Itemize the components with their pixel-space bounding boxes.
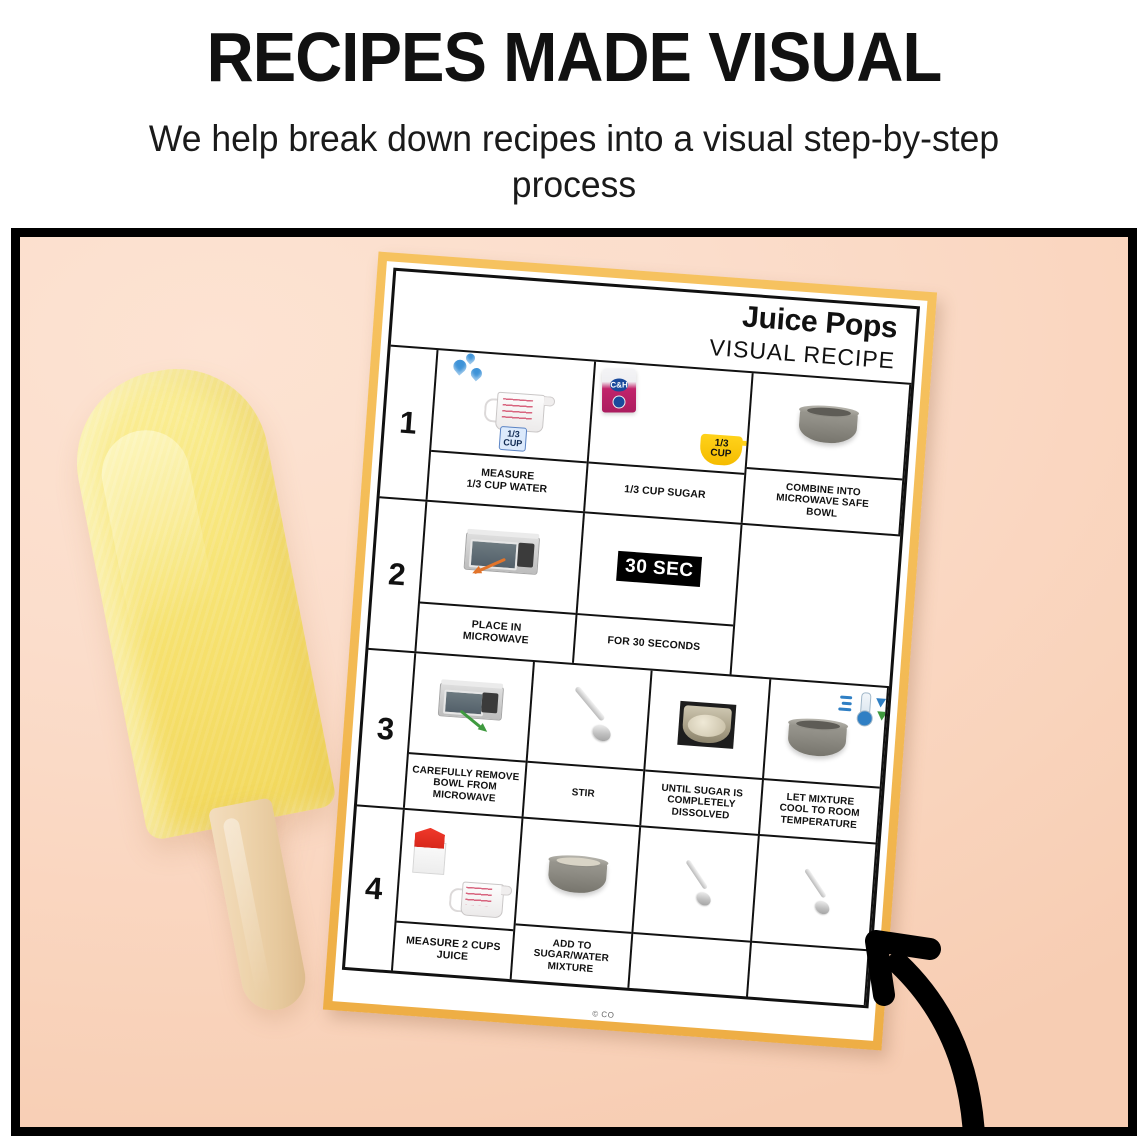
page-title: RECIPES MADE VISUAL	[40, 22, 1108, 93]
cell-image	[751, 836, 875, 951]
page-header: RECIPES MADE VISUAL We help break down r…	[0, 0, 1148, 228]
pot-dissolved-sugar-icon	[678, 700, 737, 748]
cell-image: 30 SEC	[578, 513, 741, 626]
spoon-icon	[787, 868, 840, 918]
cell-caption: MEASURE 2 CUPSJUICE	[393, 923, 513, 979]
measure-badge: 1/3CUP	[499, 426, 528, 452]
spoon-icon	[669, 859, 722, 909]
recipe-cell	[629, 827, 759, 996]
curved-arrow-icon	[856, 899, 1086, 1136]
recipe-cell: LET MIXTURECOOL TO ROOMTEMPERATURE	[759, 679, 889, 842]
recipe-cell: CAREFULLY REMOVEBOWL FROMMICROWAVE	[405, 653, 535, 816]
recipe-cell: MEASURE 2 CUPSJUICE	[393, 810, 523, 979]
cell-caption: LET MIXTURECOOL TO ROOMTEMPERATURE	[759, 780, 879, 842]
recipe-cell: STIR	[523, 662, 653, 825]
cell-image	[396, 810, 520, 931]
recipe-cell: 30 SEC FOR 30 SECONDS	[574, 513, 742, 674]
recipe-cell: COMBINE INTOMICROWAVE SAFEBOWL	[743, 373, 911, 534]
bowl-icon	[798, 407, 858, 445]
yellow-measuring-cup-icon: 1/3CUP	[699, 434, 743, 467]
spoon-icon	[555, 686, 622, 746]
recipe-page: Juice Pops VISUAL RECIPE 1	[333, 261, 928, 1041]
cell-image	[527, 662, 651, 771]
cell-image	[645, 671, 769, 780]
microwave-icon	[438, 682, 504, 721]
recipe-cell	[748, 836, 878, 1005]
cell-caption: UNTIL SUGAR ISCOMPLETELYDISSOLVED	[641, 771, 761, 833]
cell-image	[763, 679, 887, 788]
thermometer-cool-icon	[850, 691, 878, 727]
popsicle-texture	[61, 353, 337, 841]
cell-caption: ADD TOSUGAR/WATERMIXTURE	[511, 925, 631, 987]
juice-carton-icon	[412, 827, 449, 875]
cell-caption	[629, 934, 749, 996]
cell-image: C&H 1/3CUP	[589, 362, 752, 475]
recipe-cell-empty	[732, 525, 900, 686]
cell-image-empty	[732, 525, 900, 686]
page-subtitle: We help break down recipes into a visual…	[94, 116, 1054, 207]
bowl-filled-icon	[547, 856, 607, 894]
measuring-cup-icon	[456, 879, 507, 918]
cell-image	[747, 373, 909, 480]
framed-photo-panel: Juice Pops VISUAL RECIPE 1	[11, 228, 1137, 1136]
cell-image	[633, 827, 757, 942]
recipe-cell: UNTIL SUGAR ISCOMPLETELYDISSOLVED	[641, 671, 771, 834]
recipe-cell: PLACE INMICROWAVE	[416, 502, 585, 663]
recipe-cell: C&H 1/3CUP 1/3 CUP SUGAR	[585, 362, 753, 523]
cell-caption: STIR	[523, 763, 643, 825]
recipe-cell: 1/3CUP MEASURE1/3 CUP WATER	[428, 350, 597, 511]
cell-image	[515, 819, 639, 934]
cell-caption: COMBINE INTOMICROWAVE SAFEBOWL	[743, 469, 902, 534]
cell-caption: CAREFULLY REMOVEBOWL FROMMICROWAVE	[405, 754, 525, 816]
sugar-bag-icon: C&H	[602, 368, 636, 412]
recipe-cell: ADD TOSUGAR/WATERMIXTURE	[511, 819, 641, 988]
recipe-card[interactable]: Juice Pops VISUAL RECIPE 1	[323, 252, 937, 1051]
cell-image	[409, 653, 533, 762]
cell-image	[420, 502, 583, 615]
cell-image: 1/3CUP	[431, 350, 594, 463]
timer-chip-icon: 30 SEC	[616, 551, 702, 587]
recipe-table: Juice Pops VISUAL RECIPE 1	[342, 268, 920, 1009]
bowl-icon	[787, 719, 847, 757]
cell-caption	[748, 943, 868, 1005]
